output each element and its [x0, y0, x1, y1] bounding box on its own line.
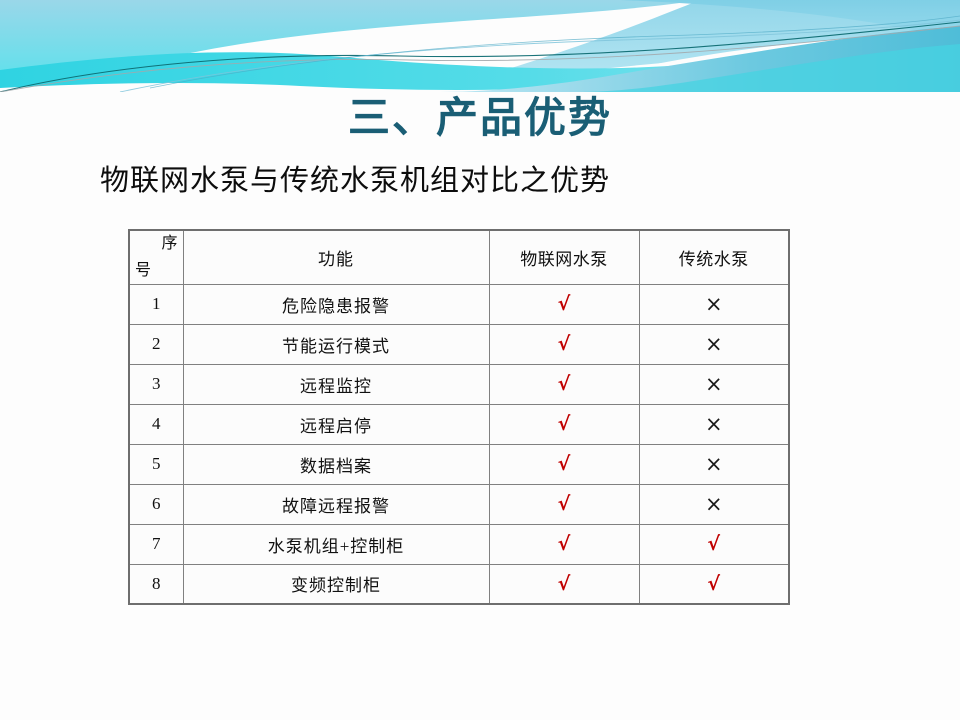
- traditional-pump-support-cell: √: [639, 564, 789, 604]
- table-row: 1危险隐患报警√×: [129, 284, 789, 324]
- slide-subtitle: 物联网水泵与传统水泵机组对比之优势: [100, 163, 720, 199]
- check-mark-icon: √: [558, 413, 571, 435]
- iot-pump-support-cell: √: [489, 564, 639, 604]
- iot-pump-support-cell: √: [489, 284, 639, 324]
- feature-name-cell: 节能运行模式: [183, 324, 489, 364]
- column-header-index: 序 号: [129, 230, 183, 284]
- row-index-cell: 2: [129, 324, 183, 364]
- cross-mark-icon: ×: [705, 412, 723, 436]
- feature-name-cell: 变频控制柜: [183, 564, 489, 604]
- table-row: 5数据档案√×: [129, 444, 789, 484]
- column-header-traditional-pump: 传统水泵: [639, 230, 789, 284]
- cross-mark-icon: ×: [705, 292, 723, 316]
- row-index-cell: 6: [129, 484, 183, 524]
- cross-mark-icon: ×: [705, 492, 723, 516]
- check-mark-icon: √: [558, 293, 571, 315]
- traditional-pump-support-cell: ×: [639, 444, 789, 484]
- iot-pump-support-cell: √: [489, 404, 639, 444]
- row-index-cell: 4: [129, 404, 183, 444]
- wave-graphic: [0, 0, 960, 92]
- column-header-function: 功能: [183, 230, 489, 284]
- row-index-cell: 3: [129, 364, 183, 404]
- feature-name-cell: 远程监控: [183, 364, 489, 404]
- traditional-pump-support-cell: ×: [639, 324, 789, 364]
- check-mark-icon: √: [558, 373, 571, 395]
- row-index-cell: 8: [129, 564, 183, 604]
- check-mark-icon: √: [558, 453, 571, 475]
- traditional-pump-support-cell: ×: [639, 284, 789, 324]
- slide-title: 三、产品优势: [0, 92, 960, 144]
- column-header-index-bottom: 号: [135, 261, 151, 281]
- feature-name-cell: 危险隐患报警: [183, 284, 489, 324]
- check-mark-icon: √: [707, 573, 720, 595]
- cross-mark-icon: ×: [705, 332, 723, 356]
- traditional-pump-support-cell: √: [639, 524, 789, 564]
- traditional-pump-support-cell: ×: [639, 404, 789, 444]
- iot-vs-traditional-pump-comparison-table: 序 号 功能 物联网水泵 传统水泵 1危险隐患报警√×2节能运行模式√×3远程监…: [128, 229, 790, 605]
- traditional-pump-support-cell: ×: [639, 484, 789, 524]
- table-row: 6故障远程报警√×: [129, 484, 789, 524]
- check-mark-icon: √: [558, 573, 571, 595]
- cross-mark-icon: ×: [705, 372, 723, 396]
- row-index-cell: 5: [129, 444, 183, 484]
- feature-name-cell: 水泵机组+控制柜: [183, 524, 489, 564]
- check-mark-icon: √: [558, 533, 571, 555]
- column-header-index-top: 序: [161, 234, 177, 254]
- iot-pump-support-cell: √: [489, 324, 639, 364]
- traditional-pump-support-cell: ×: [639, 364, 789, 404]
- table-row: 2节能运行模式√×: [129, 324, 789, 364]
- check-mark-icon: √: [707, 533, 720, 555]
- row-index-cell: 1: [129, 284, 183, 324]
- check-mark-icon: √: [558, 493, 571, 515]
- iot-pump-support-cell: √: [489, 444, 639, 484]
- feature-name-cell: 故障远程报警: [183, 484, 489, 524]
- cross-mark-icon: ×: [705, 452, 723, 476]
- table-row: 3远程监控√×: [129, 364, 789, 404]
- row-index-cell: 7: [129, 524, 183, 564]
- iot-pump-support-cell: √: [489, 484, 639, 524]
- table-row: 4远程启停√×: [129, 404, 789, 444]
- feature-name-cell: 远程启停: [183, 404, 489, 444]
- table-row: 8变频控制柜√√: [129, 564, 789, 604]
- table-row: 7水泵机组+控制柜√√: [129, 524, 789, 564]
- feature-name-cell: 数据档案: [183, 444, 489, 484]
- decorative-wave-banner: [0, 0, 960, 92]
- comparison-table-container: 序 号 功能 物联网水泵 传统水泵 1危险隐患报警√×2节能运行模式√×3远程监…: [128, 229, 788, 605]
- iot-pump-support-cell: √: [489, 364, 639, 404]
- table-header-row: 序 号 功能 物联网水泵 传统水泵: [129, 230, 789, 284]
- check-mark-icon: √: [558, 333, 571, 355]
- column-header-iot-pump: 物联网水泵: [489, 230, 639, 284]
- iot-pump-support-cell: √: [489, 524, 639, 564]
